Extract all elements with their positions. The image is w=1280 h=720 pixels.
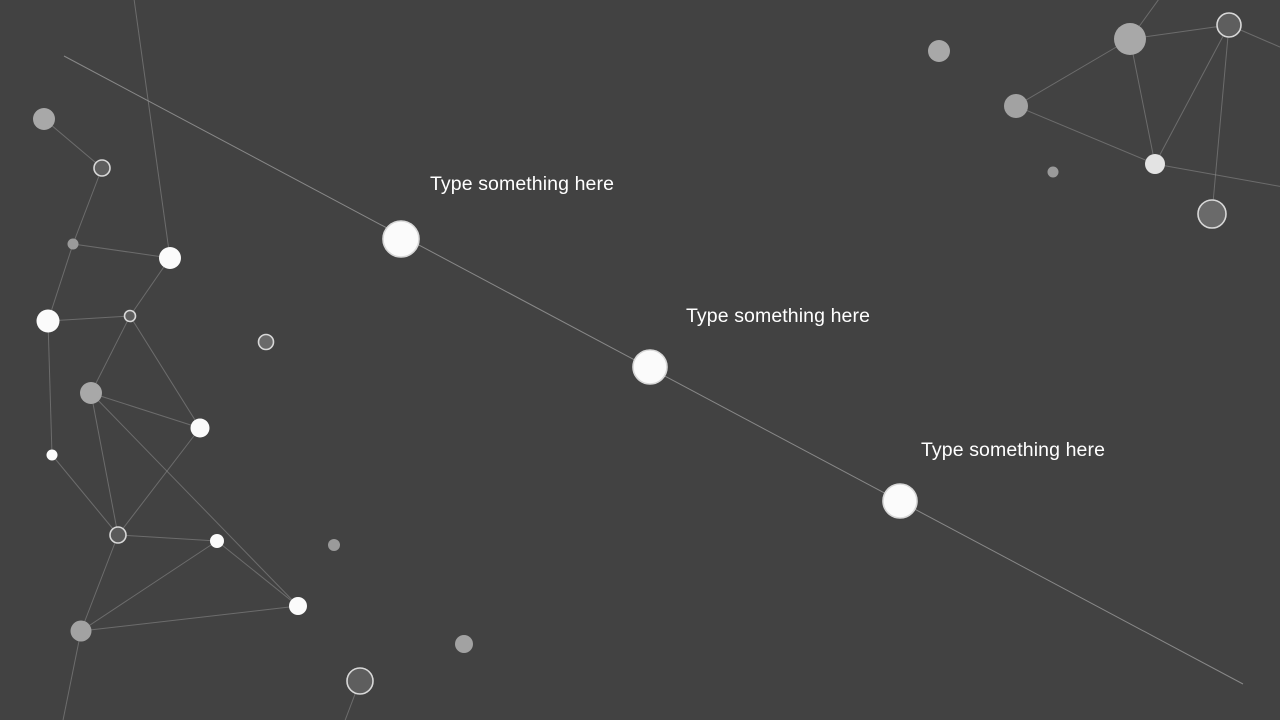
graph-node[interactable] [33,108,55,130]
graph-node[interactable] [125,311,136,322]
graph-node[interactable] [328,539,340,551]
graph-node[interactable] [94,160,110,176]
graph-edge [48,244,73,321]
graph-node[interactable] [210,534,224,548]
graph-canvas[interactable]: Type something hereType something hereTy… [0,0,1280,720]
graph-node[interactable] [68,239,79,250]
graph-edge [48,316,130,321]
graph-node[interactable] [1198,200,1226,228]
graph-node[interactable] [883,484,917,518]
graph-edge [73,244,170,258]
graph-edge-offscreen [55,631,81,720]
network-graph-svg [0,0,1280,720]
graph-node[interactable] [633,350,667,384]
graph-edge-offscreen [1155,164,1280,190]
graph-edge [1016,106,1155,164]
graph-edge [81,535,118,631]
graph-edge-offscreen [130,0,170,258]
graph-edge [118,428,200,535]
graph-node[interactable] [383,221,419,257]
graph-edge [73,168,102,244]
graph-node[interactable] [259,335,274,350]
graph-edge [1212,25,1229,214]
nodes-layer [33,13,1241,694]
graph-edge [1130,39,1155,164]
graph-node[interactable] [110,527,126,543]
graph-node[interactable] [928,40,950,62]
graph-node[interactable] [191,419,210,438]
graph-edge [91,393,118,535]
graph-node[interactable] [47,450,58,461]
graph-edge [91,316,130,393]
graph-edge [130,316,200,428]
graph-edge [48,321,52,455]
graph-node[interactable] [80,382,102,404]
graph-edge [217,541,298,606]
graph-node[interactable] [159,247,181,269]
graph-text-label-2[interactable]: Type something here [686,307,870,327]
graph-node[interactable] [1114,23,1146,55]
graph-edge [44,119,102,168]
graph-text-label-3[interactable]: Type something here [921,441,1105,461]
graph-edge [52,455,118,535]
graph-edge [118,535,217,541]
graph-text-label-1[interactable]: Type something here [430,175,614,195]
graph-node[interactable] [37,310,60,333]
graph-node[interactable] [347,668,373,694]
graph-node[interactable] [1145,154,1165,174]
graph-node[interactable] [1048,167,1059,178]
graph-node[interactable] [289,597,307,615]
graph-node[interactable] [1217,13,1241,37]
graph-edge [1016,39,1130,106]
graph-node[interactable] [71,621,92,642]
graph-node[interactable] [455,635,473,653]
graph-node[interactable] [1004,94,1028,118]
